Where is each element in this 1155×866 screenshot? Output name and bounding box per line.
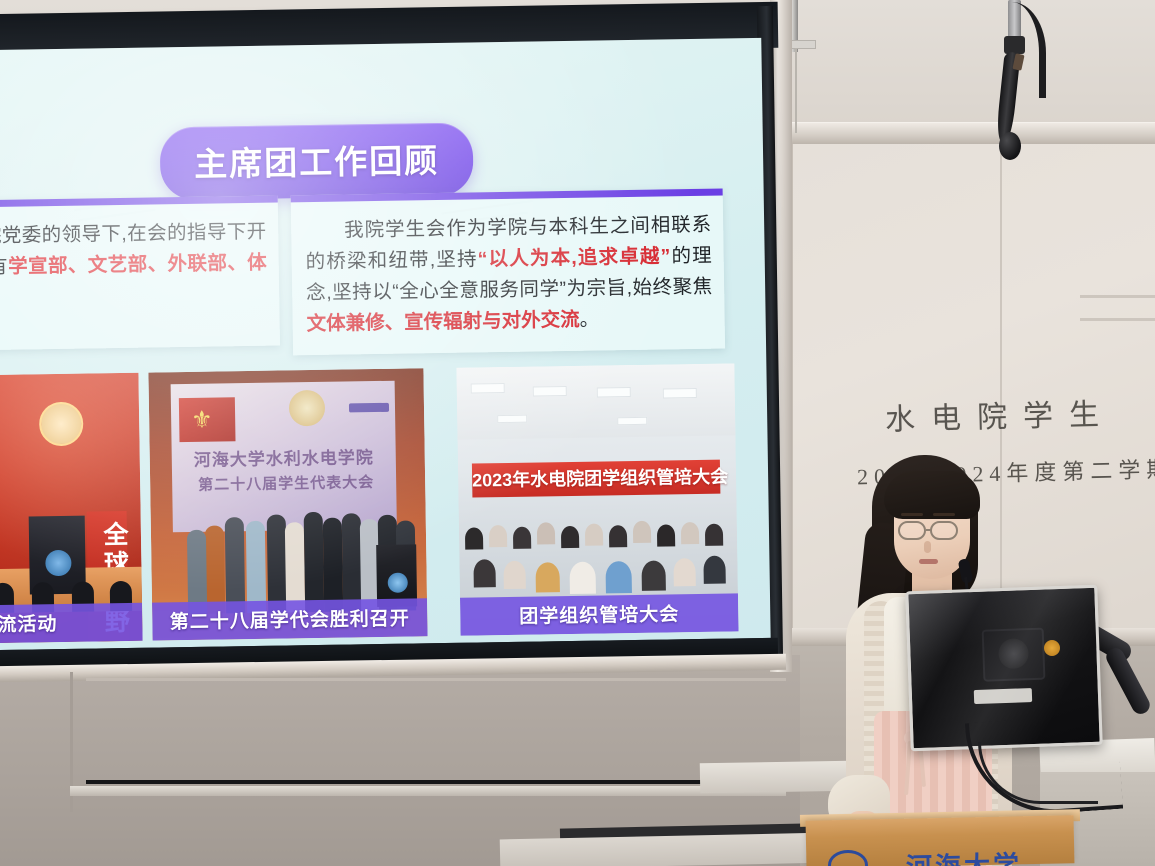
monitor-arm-knob[interactable] <box>1044 640 1060 656</box>
photo-2-hammer-sickle-icon: ⚜ <box>191 406 213 435</box>
presenter-brow-right <box>933 513 955 516</box>
slide-title-pill: 主席团工作回顾 <box>160 122 474 200</box>
left-seg-1: 学生会在学院党委的领导下,在 <box>0 223 147 249</box>
monitor-port-label <box>974 688 1032 704</box>
photo-1-caption: 习交流活动 <box>0 603 143 645</box>
photo-card-1: 精神 之美 学水利水电学院 月日 全球视野 习交流活动 <box>0 373 143 645</box>
wall-panel-rail <box>70 786 786 796</box>
text-card-left: 学生会在学院党委的领导下,在会的指导下开展工作,共设有学宣部、文艺部、外联部、体… <box>0 196 280 352</box>
photo-3-caption: 团学组织管培大会 <box>460 593 739 635</box>
presenter-hair-fringe <box>884 471 980 519</box>
glasses-lens-left-icon <box>898 521 926 540</box>
microphone-head <box>999 132 1021 160</box>
text-card-right-paragraph: 我院学生会作为学院与本科生之间相联系的桥梁和纽带,坚持“以人为本,追求卓越”的理… <box>305 210 713 340</box>
photo-3-crowd <box>458 485 738 607</box>
wall-panel-edge-3 <box>86 780 786 784</box>
glasses-lens-right-icon <box>930 521 958 540</box>
whiteboard-seam-3 <box>1080 318 1155 321</box>
whiteboard-seam-2 <box>1080 295 1155 298</box>
photo-card-3: 2023年水电院团学组织管培大会 <box>456 363 738 635</box>
slide-title: 主席团工作回顾 <box>194 134 440 186</box>
photo-3-ceiling <box>456 363 735 439</box>
presenter-nose <box>924 541 931 553</box>
photo-2-caption: 第二十八届学代会胜利召开 <box>152 598 428 640</box>
ceiling-wire <box>795 48 797 133</box>
text-card-right: 我院学生会作为学院与本科生之间相联系的桥梁和纽带,坚持“以人为本,追求卓越”的理… <box>291 189 725 356</box>
text-card-left-paragraph: 学生会在学院党委的领导下,在会的指导下开展工作,共设有学宣部、文艺部、外联部、体… <box>0 217 267 316</box>
presenter-mouth <box>919 559 938 564</box>
photo-2-screen-tag <box>349 403 389 413</box>
photo-2-screen-line-2: 第二十八届学生代表大会 <box>198 471 374 495</box>
left-seg-3-highlight: 学 <box>8 255 28 277</box>
photo-2-screen-line-1: 河海大学水利水电学院 <box>194 443 374 471</box>
right-seg-4-highlight: 文体兼修、宣传辐射与对外交流 <box>307 309 580 335</box>
photo-card-2: ⚜ 河海大学水利水电学院 第二十八届学生代表大会 <box>148 368 427 640</box>
right-seg-2-highlight: “以人为本,追求卓越” <box>477 245 670 270</box>
left-seg-4-highlight: 宣部、文艺部、外联部、体育部 <box>0 252 267 311</box>
whiteboard-top-rail <box>775 122 1155 144</box>
desk-surface <box>500 833 831 866</box>
podium-name-text: 河海大学 <box>906 845 1023 866</box>
whiteboard-handwriting-line-1: 水电院学生 <box>884 389 1115 439</box>
presenter-brow-left <box>901 513 923 516</box>
wall-panel-edge-2 <box>86 678 786 681</box>
right-seg-5: 。 <box>579 309 599 331</box>
glasses-bridge-icon <box>926 529 932 531</box>
presentation-slide: 主席团工作回顾 学生会在学院党委的领导下,在会的指导下开展工作,共设有学宣部、文… <box>0 38 771 650</box>
ceiling-bracket-plate <box>788 40 816 49</box>
classroom-scene: 水电院学生 2023-2024年度第二学期 远 主席团工作回顾 学生会在学院党委… <box>0 0 1155 866</box>
photo-2-emblem-icon <box>289 390 326 427</box>
